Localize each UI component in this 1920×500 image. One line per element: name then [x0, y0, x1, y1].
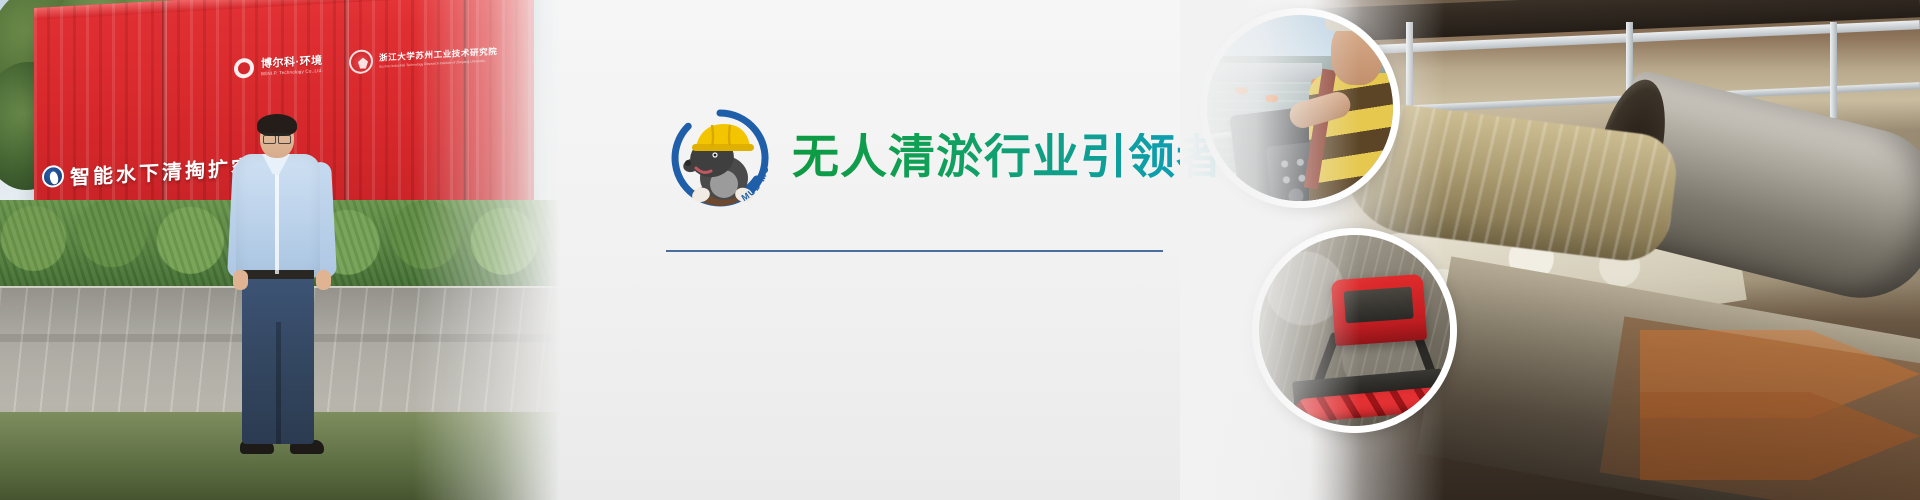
divider-line — [666, 250, 1163, 252]
operator-remote-control-photo — [1200, 8, 1400, 208]
left-photo: 博尔科·环境 BENI.P. Technology Co.,Ltd. 浙江大学苏… — [0, 0, 560, 500]
mud-mole-logo: MUD MOLE — [668, 106, 772, 210]
dredging-robot-photo — [1252, 228, 1457, 433]
brand-emblem-icon — [234, 58, 254, 79]
university-seal-icon — [349, 49, 373, 74]
container-seam — [464, 0, 469, 214]
center-content: MUD MOLE 无人清淤行业引领者 — [660, 0, 1180, 500]
shirt-placket — [275, 166, 279, 274]
right-photo-group — [1180, 0, 1920, 500]
hero-banner: 博尔科·环境 BENI.P. Technology Co.,Ltd. 浙江大学苏… — [0, 0, 1920, 500]
slogan-badge-icon — [42, 165, 64, 188]
person-in-blue-shirt — [222, 118, 340, 448]
container-seam — [344, 0, 349, 221]
logo-and-headline-row: MUD MOLE 无人清淤行业引领者 — [668, 106, 1224, 210]
container-seam — [162, 1, 167, 231]
headline-text: 无人清淤行业引领者 — [792, 133, 1224, 182]
mud-mole-logo-icon: MUD MOLE — [668, 106, 772, 210]
robot-body — [1331, 274, 1427, 346]
trousers — [242, 274, 314, 444]
float-buoy — [1235, 87, 1248, 94]
operator — [1303, 11, 1400, 208]
glasses-icon — [263, 133, 291, 140]
hand — [233, 270, 248, 290]
hand — [316, 270, 331, 290]
float-buoy — [1265, 95, 1278, 102]
